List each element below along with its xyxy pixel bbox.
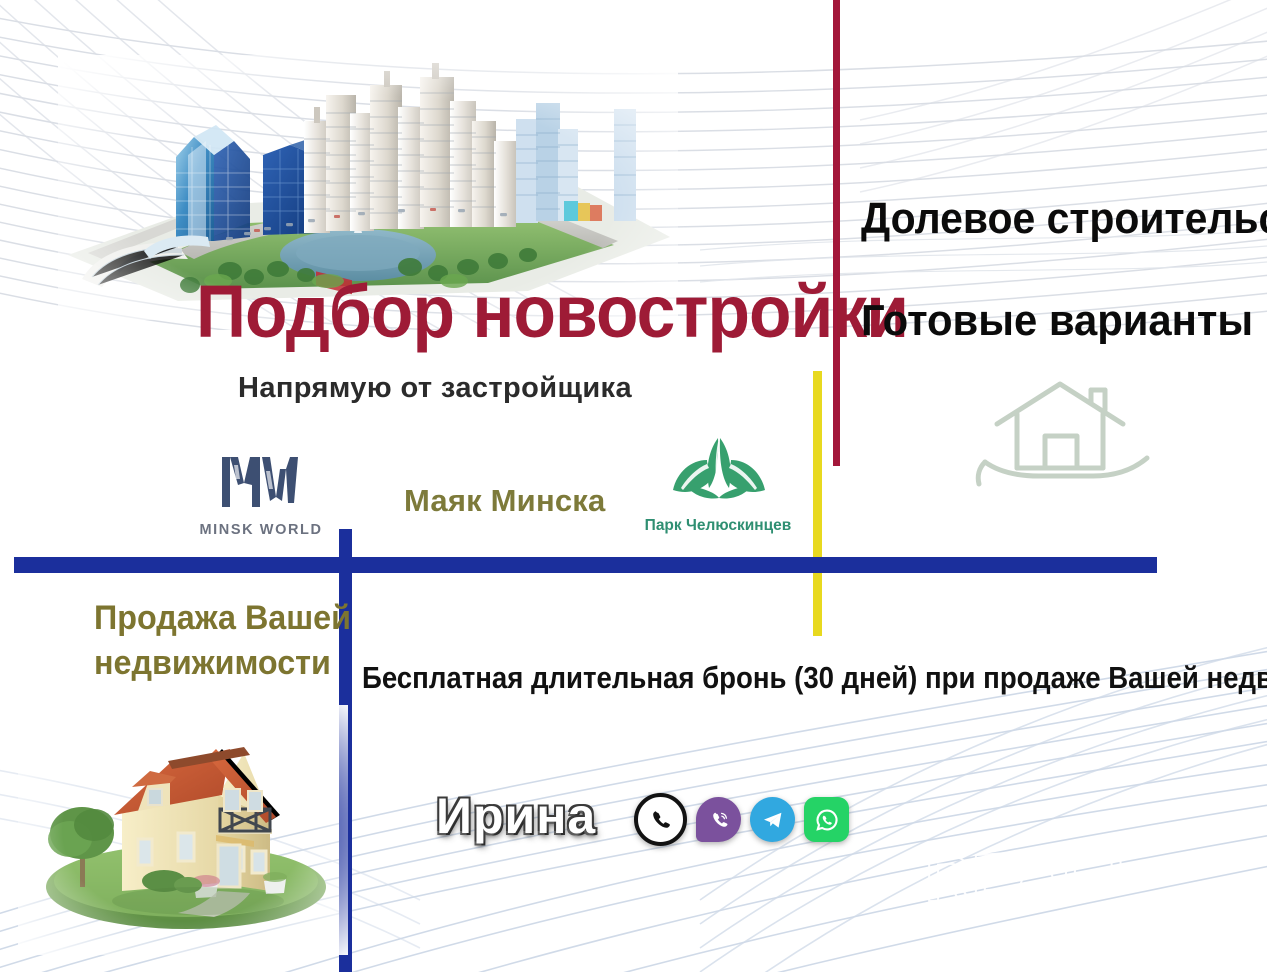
developer-logo-minsk-world: MINSK WORLD [186, 455, 336, 555]
house-in-hand-icon [965, 372, 1155, 494]
feature-ready-options: Готовые варианты [861, 296, 1253, 346]
developer-logo-park-chelyuskintsev: Парк Челюскинцев [638, 430, 798, 535]
sale-property-heading-line1: Продажа Вашей [94, 596, 351, 641]
sale-property-heading: Продажа Вашей недвижимости [94, 596, 351, 686]
leaf-icon [657, 430, 779, 510]
whatsapp-icon[interactable] [804, 797, 849, 842]
developer-logo-park-chelyuskintsev-label: Парк Челюскинцев [638, 517, 798, 535]
agent-name: Ирина [436, 787, 596, 845]
divider-blue-horizontal [14, 557, 1157, 573]
page-title: Подбор новостройки [196, 275, 908, 349]
developer-logo-minsk-world-label: MINSK WORLD [186, 522, 336, 538]
feature-shared-construction: Долевое строительство [861, 194, 1267, 244]
page-subtitle: Напрямую от застройщика [238, 372, 632, 405]
divider-crimson-vertical [833, 0, 840, 466]
minsk-world-monogram-icon [218, 455, 304, 513]
developer-logo-mayak-minska: Маяк Минска [404, 483, 605, 519]
telegram-icon[interactable] [750, 797, 795, 842]
promo-free-booking-text: Бесплатная длительная бронь (30 дней) пр… [362, 660, 1267, 696]
realt-watermark: REALT [925, 831, 1137, 917]
cottage-house-image [18, 705, 348, 955]
sale-property-heading-line2: недвижимости [94, 641, 351, 686]
contact-icons [634, 793, 849, 846]
phone-icon[interactable] [634, 793, 687, 846]
viber-icon[interactable] [696, 797, 741, 842]
divider-yellow-vertical [813, 371, 822, 636]
advertisement-banner: Подбор новостройки Напрямую от застройщи… [0, 0, 1267, 972]
